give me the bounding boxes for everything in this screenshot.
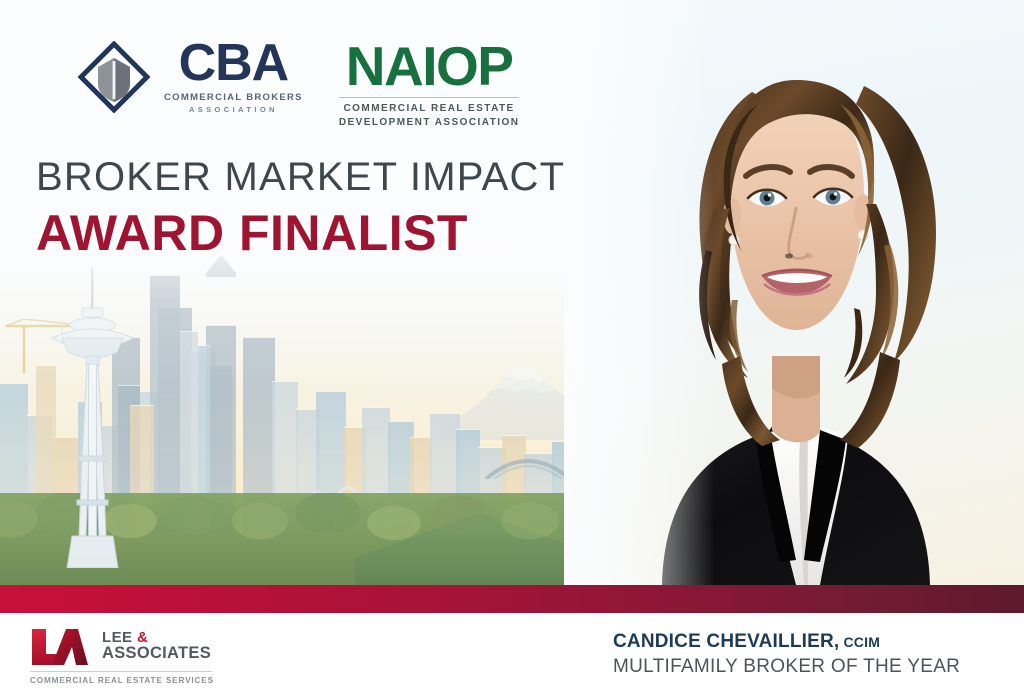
naiop-logo: NAIOP COMMERCIAL REAL ESTATE DEVELOPMENT… xyxy=(339,40,520,131)
naiop-divider xyxy=(339,97,520,98)
naiop-subtitle-2: DEVELOPMENT ASSOCIATION xyxy=(339,116,520,131)
naiop-wordmark: NAIOP xyxy=(346,42,513,92)
cba-wordmark: CBA xyxy=(179,40,289,88)
lee-tagline: COMMERCIAL REAL ESTATE SERVICES xyxy=(30,676,214,685)
honoree-role: MULTIFAMILY BROKER OF THE YEAR xyxy=(613,656,960,678)
naiop-subtitle-1: COMMERCIAL REAL ESTATE xyxy=(339,102,520,117)
lee-wordmark-line-1: LEE & xyxy=(102,630,211,645)
headline-block: BROKER MARKET IMPACT AWARD FINALIST xyxy=(36,155,565,261)
space-needle-icon xyxy=(38,268,148,568)
cba-logo: CBA COMMERCIAL BROKERS ASSOCIATION xyxy=(78,40,303,114)
headline-line-2: AWARD FINALIST xyxy=(36,205,565,261)
cba-subtitle-1: COMMERCIAL BROKERS xyxy=(164,92,303,103)
honoree-credit: CANDICE CHEVAILLIER, CCIM MULTIFAMILY BR… xyxy=(613,631,960,678)
lee-associates-logo: LEE & ASSOCIATES COMMERCIAL REAL ESTATE … xyxy=(30,627,214,685)
cba-wordmark-block: CBA COMMERCIAL BROKERS ASSOCIATION xyxy=(164,40,303,114)
honoree-name: CANDICE CHEVAILLIER, xyxy=(613,631,839,652)
logo-row: CBA COMMERCIAL BROKERS ASSOCIATION NAIOP… xyxy=(78,40,519,131)
stadium-arch-icon xyxy=(484,449,572,479)
avatar xyxy=(564,0,1024,585)
honoree-designation: CCIM xyxy=(839,634,880,650)
honoree-name-line: CANDICE CHEVAILLIER, CCIM xyxy=(613,631,960,653)
lee-divider xyxy=(30,671,212,672)
portrait-region xyxy=(564,0,1024,585)
lee-wordmark-line-2: ASSOCIATES xyxy=(102,645,211,662)
naiop-subtitle: COMMERCIAL REAL ESTATE DEVELOPMENT ASSOC… xyxy=(339,102,520,131)
cba-subtitle-2: ASSOCIATION xyxy=(189,105,278,114)
footer: LEE & ASSOCIATES COMMERCIAL REAL ESTATE … xyxy=(0,613,1024,695)
lee-associates-la-monogram-icon xyxy=(30,627,90,665)
headline-line-1: BROKER MARKET IMPACT xyxy=(36,155,565,199)
lee-logo-row: LEE & ASSOCIATES xyxy=(30,627,214,665)
lee-wordmark-block: LEE & ASSOCIATES xyxy=(102,630,211,662)
diamond-shield-icon xyxy=(78,41,150,113)
award-poster: CBA COMMERCIAL BROKERS ASSOCIATION NAIOP… xyxy=(0,0,1024,695)
accent-bar xyxy=(0,585,1024,613)
